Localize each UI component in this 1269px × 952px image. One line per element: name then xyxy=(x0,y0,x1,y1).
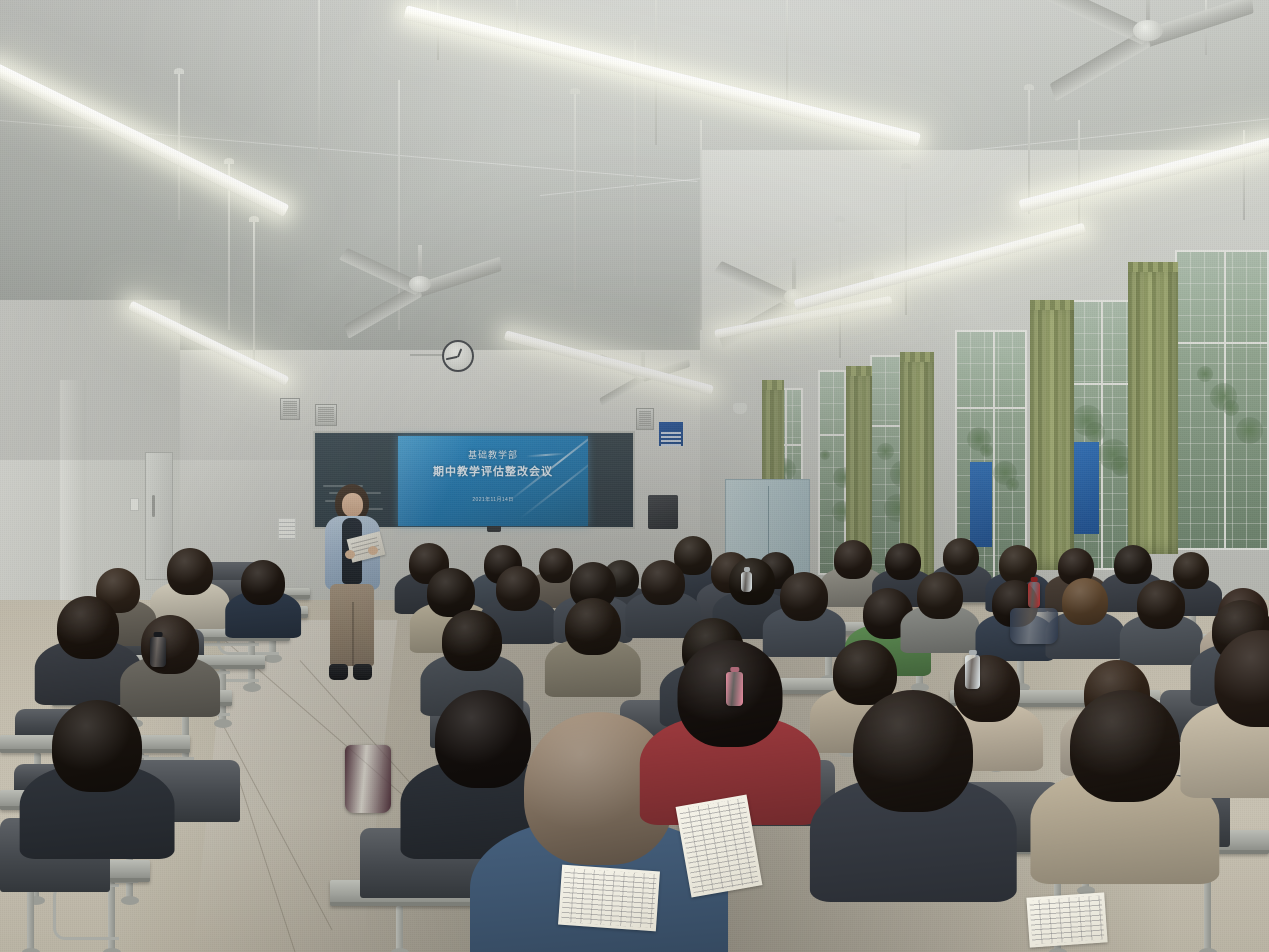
curtain-header xyxy=(900,352,934,362)
audience-head xyxy=(496,566,540,611)
wall-speaker-icon xyxy=(315,404,337,426)
suspension-rod xyxy=(178,70,180,220)
bottle-cap xyxy=(1031,577,1038,582)
water-bottle xyxy=(965,655,980,689)
desk-foot xyxy=(103,948,121,952)
thermos-red xyxy=(1028,582,1040,608)
audience-head xyxy=(565,598,621,655)
ceiling-camera-icon xyxy=(733,403,747,414)
wall-clock-icon xyxy=(442,340,474,372)
wall-speaker-icon xyxy=(636,408,654,430)
ceiling-fan xyxy=(1030,0,1265,79)
audience-head xyxy=(1137,580,1185,629)
classroom-photo: 基础教学部 期中教学评估整改会议 2021年11月14日 xyxy=(0,0,1269,952)
thermos-black xyxy=(150,637,166,667)
suspension-rod xyxy=(437,0,439,60)
curtain[interactable] xyxy=(1128,262,1178,554)
suspension-rod xyxy=(1028,86,1030,214)
blue-signboard-outside xyxy=(970,462,992,547)
backpack xyxy=(1010,608,1058,644)
rod-cap-icon xyxy=(1024,84,1034,90)
audience-head xyxy=(641,560,685,605)
bottle-cap xyxy=(968,650,976,655)
desk-foot xyxy=(121,896,139,905)
presenter-shoe xyxy=(353,664,372,680)
audience-head xyxy=(52,700,142,792)
suspension-rod xyxy=(1078,120,1080,230)
window-foliage xyxy=(1236,417,1263,444)
paper-right xyxy=(1026,892,1107,947)
thermos-pink xyxy=(726,672,743,706)
suspension-rod xyxy=(786,0,788,108)
curtain-header xyxy=(1128,262,1178,272)
bottle-cap xyxy=(743,567,749,572)
audience-head xyxy=(442,610,502,671)
desk-foot xyxy=(264,654,282,663)
suspension-rod xyxy=(318,0,320,175)
presenter-face xyxy=(342,493,363,517)
presenter-hand xyxy=(368,546,378,555)
document-table-grid xyxy=(561,868,657,928)
audience-head xyxy=(57,596,119,659)
document-table-grid xyxy=(1030,896,1105,945)
window-foliage xyxy=(877,443,894,460)
curtain-header xyxy=(846,366,872,376)
document-table-grid xyxy=(679,798,759,894)
audience-member xyxy=(810,690,1016,938)
desk-leg xyxy=(27,882,34,952)
rod-cap-icon xyxy=(630,34,640,40)
slide-date: 2021年11月14日 xyxy=(398,496,588,503)
handbag xyxy=(345,745,391,813)
audience-head xyxy=(241,560,285,605)
curtain-header xyxy=(762,380,784,390)
ceiling-fan xyxy=(330,245,510,321)
desk-leg xyxy=(396,906,403,952)
suspension-rod xyxy=(574,90,576,290)
notes-on-desk xyxy=(558,865,660,932)
window-foliage xyxy=(980,444,993,457)
presenter-trousers xyxy=(330,584,374,666)
audience-head xyxy=(1062,578,1108,625)
curtain[interactable] xyxy=(1030,300,1074,570)
slide-line-1: 基础教学部 xyxy=(398,448,588,461)
seat-arm-rail xyxy=(53,884,119,940)
fan-hub xyxy=(409,276,431,291)
clock-mount xyxy=(410,354,444,356)
blue-signboard-outside xyxy=(1073,442,1099,534)
rod-cap-icon xyxy=(570,88,580,94)
projection-screen: 基础教学部 期中教学评估整改会议 2021年11月14日 xyxy=(398,436,588,526)
fan-blade xyxy=(1147,0,1254,47)
water-bottle-2 xyxy=(741,572,752,592)
desk-foot xyxy=(243,683,261,692)
rod-cap-icon xyxy=(835,216,845,222)
window-foliage xyxy=(1085,422,1105,442)
presenter xyxy=(313,484,387,706)
rod-cap-icon xyxy=(174,68,184,74)
audience-member xyxy=(20,700,175,886)
window-mullion xyxy=(993,332,995,578)
presenter-hand xyxy=(345,550,355,559)
desk-foot xyxy=(391,948,409,952)
light-switch[interactable] xyxy=(130,498,139,511)
window-transom xyxy=(1177,342,1267,344)
audience-head xyxy=(943,538,979,575)
bottle-cap xyxy=(730,667,739,672)
window-foliage xyxy=(1006,478,1019,491)
suspension-rod xyxy=(700,120,702,330)
slide-line-2: 期中教学评估整改会议 xyxy=(398,463,588,479)
desk-foot xyxy=(22,948,40,952)
audience-member xyxy=(225,560,301,651)
audience-head xyxy=(917,572,963,619)
audience-head xyxy=(780,572,828,621)
fan-blade xyxy=(419,257,501,297)
suspension-rod xyxy=(905,165,907,315)
window-transom xyxy=(957,407,1025,409)
audio-amplifier xyxy=(648,495,678,529)
audience-head xyxy=(853,690,973,812)
bottle-cap xyxy=(154,632,163,637)
audience-head xyxy=(167,548,213,595)
rod-cap-icon xyxy=(901,163,911,169)
blue-wall-sign xyxy=(658,421,684,447)
curtain-header xyxy=(1030,300,1074,310)
presenter-shoe xyxy=(329,664,348,680)
window-foliage xyxy=(820,450,830,460)
window-foliage xyxy=(1197,366,1213,382)
audience-member xyxy=(1180,630,1269,827)
desk-foot xyxy=(1049,948,1067,952)
rod-cap-icon xyxy=(224,158,234,164)
desk-foot xyxy=(1199,948,1217,952)
paper-notice xyxy=(278,518,296,540)
audience-head xyxy=(1070,690,1180,802)
rod-cap-icon xyxy=(249,216,259,222)
suspension-rod xyxy=(253,218,255,368)
fan-hub xyxy=(1133,20,1163,41)
window xyxy=(1175,250,1269,550)
window-foliage xyxy=(1223,400,1239,416)
screen-stand xyxy=(487,526,501,532)
wall-speaker-icon xyxy=(280,398,300,420)
